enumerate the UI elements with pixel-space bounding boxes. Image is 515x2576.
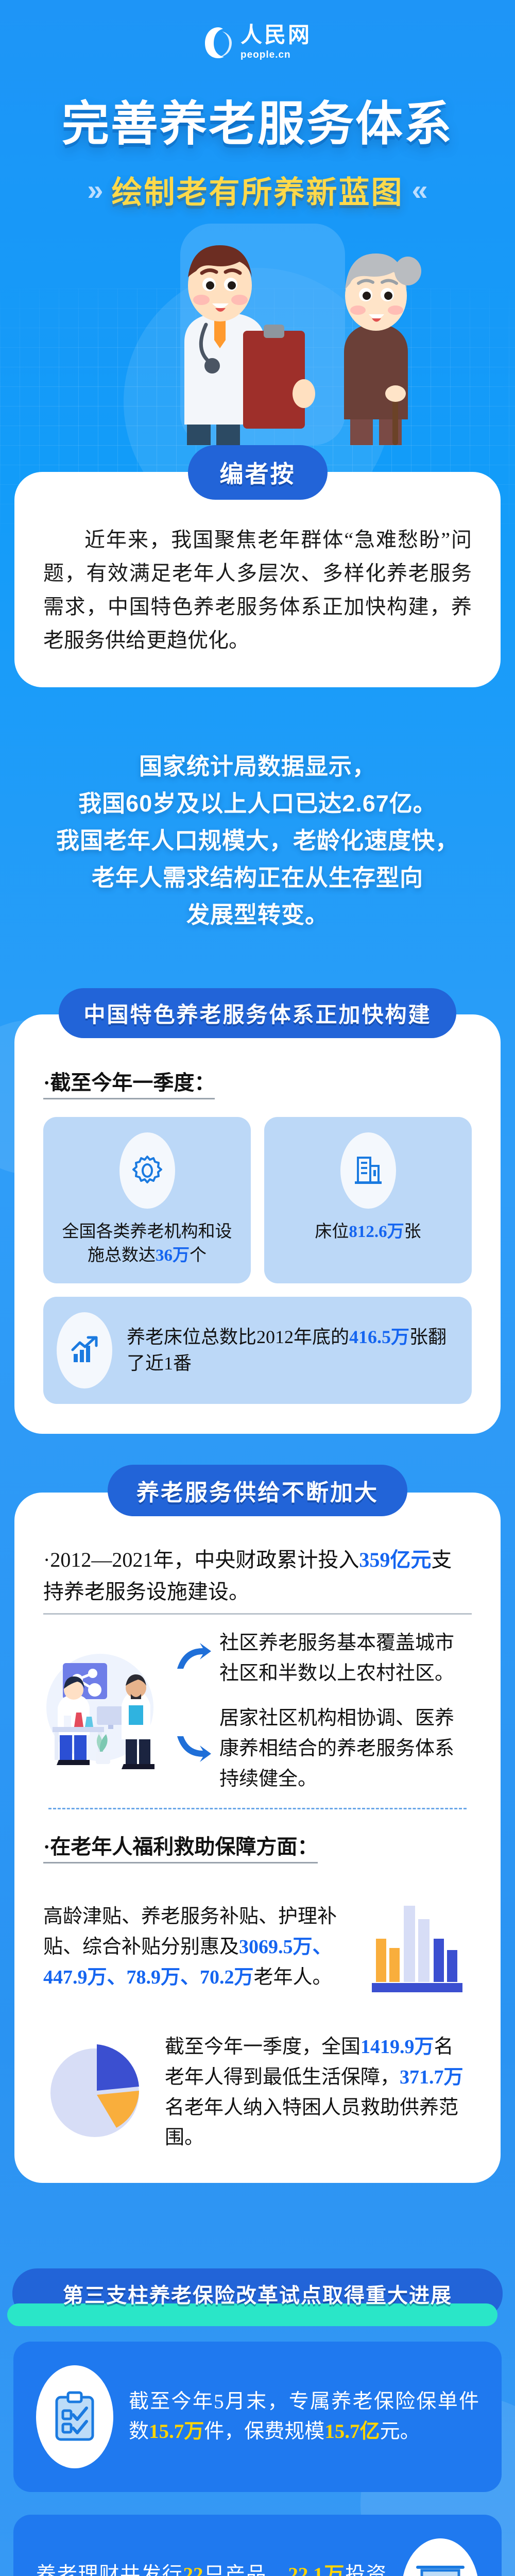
editor-note-body: 近年来，我国聚焦老年群体“急难愁盼”问题，有效满足老年人多层次、多样化养老服务需… [43,523,472,657]
policy-after: 元。 [380,2420,420,2443]
integrated-system-text: 居家社区机构相协调、医养康养相结合的养老服务体系持续健全。 [219,1703,472,1794]
section1-bullet-head: ·截至今年一季度： [43,1066,215,1099]
page-subtitle: 绘制老有所养新蓝图 [112,167,404,212]
stat-card-beds-text: 床位812.6万张 [315,1220,421,1244]
section3-ribbon-wrap: 第三支柱养老保险改革试点取得重大进展 [12,2268,503,2319]
pie-value-1: 1419.9万 [360,2036,434,2058]
arrow-down-right-icon [175,1733,211,1765]
pension-policy-card: 截至今年5月末，专属养老保险保单件数15.7万件，保费规模15.7亿元。 [13,2342,502,2492]
page-title: 完善养老服务体系 [0,99,515,150]
pension-wealth-text: 养老理财共发行22只产品，22.1万投资者认购金额544亿元。 [36,2560,386,2576]
chevron-left-icon: « [412,176,428,205]
section1-panel: ·截至今年一季度： 全国各类养老机构和设施总数达36万个 [14,1014,501,1434]
growth-chart-icon [57,1312,112,1388]
editor-note-pill-wrap: 编者按 [0,445,515,500]
stat-card-bed-growth: 养老床位总数比2012年底的416.5万张翻了近1番 [43,1297,472,1404]
welfare-after: 老年人。 [254,1967,332,1988]
section2-funding-lead: ·2012—2021年，中央财政累计投入359亿元支持养老服务设施建设。 [43,1544,472,1615]
logo-text-en: people.cn [241,49,291,61]
section2-bullet-head: ·在老年人福利救助保障方面： [43,1830,318,1863]
presentation-chart-icon [402,2538,479,2576]
section1-card-row: 全国各类养老机构和设施总数达36万个 床 [43,1117,472,1284]
doctor-and-elder-illustration [0,224,515,445]
bed-growth-before: 养老床位总数比2012年底的 [127,1327,349,1347]
assistance-coverage-text: 截至今年一季度，全国1419.9万名老年人得到最低生活保障，371.7万名老年人… [165,2032,472,2154]
gear-icon [119,1132,175,1209]
pie-after: 名老年人纳入特困人员救助供养范围。 [165,2097,458,2149]
institutions-text-after: 个 [190,1246,207,1265]
stat-card-institutions: 全国各类养老机构和设施总数达36万个 [43,1117,251,1284]
bed-growth-text: 养老床位总数比2012年底的416.5万张翻了近1番 [127,1324,458,1377]
pension-wealth-card: 养老理财共发行22只产品，22.1万投资者认购金额544亿元。 [13,2515,502,2576]
policy-value-2: 15.7亿 [324,2420,380,2443]
arrow-up-right-icon [175,1643,211,1674]
section2-ribbon-wrap: 养老服务供给不断加大 [0,1465,515,1516]
section2-coverage-row: 社区养老服务基本覆盖城市社区和半数以上农村社区。 居家社区机构相协调、医养康养相… [43,1628,472,1794]
stat-card-beds: 床位812.6万张 [264,1117,472,1284]
wealth-value-2: 22.1万 [288,2564,345,2576]
bed-growth-value: 416.5万 [349,1327,409,1347]
pie-before: 截至今年一季度，全国 [165,2036,360,2058]
institutions-value: 36万 [156,1246,190,1265]
wealth-value-1: 22 [183,2564,203,2576]
policy-value-1: 15.7万 [149,2420,204,2443]
welfare-subsidy-text: 高龄津贴、养老服务补贴、护理补贴、综合补贴分别惠及3069.5万、447.9万、… [43,1902,355,1993]
policy-mid: 件，保费规模 [204,2420,324,2443]
hero: 完善养老服务体系 » 绘制老有所养新蓝图 « [0,67,515,212]
assistance-pie-chart [43,2037,151,2148]
beds-text-before: 床位 [315,1223,349,1241]
lab-researchers-illustration-icon [43,1646,162,1777]
welfare-subsidy-row: 高龄津贴、养老服务补贴、护理补贴、综合补贴分别惠及3069.5万、447.9万、… [43,1894,472,2000]
beds-text-after: 张 [404,1223,421,1241]
section3-ribbon: 第三支柱养老保险改革试点取得重大进展 [12,2268,503,2319]
wealth-mid: 只产品， [203,2564,288,2576]
stat-line-1: 国家统计局数据显示， [31,748,484,785]
section2-panel: ·2012—2021年，中央财政累计投入359亿元支持养老服务设施建设。 [14,1493,501,2183]
logo-text-cn: 人民网 [241,25,312,46]
stat-line-2: 我国60岁及以上人口已达2.67亿。 [31,785,484,822]
stat-line-5: 发展型转变。 [31,896,484,934]
national-statistics-band: 国家统计局数据显示， 我国60岁及以上人口已达2.67亿。 我国老年人口规模大，… [0,721,515,963]
funding-before: ·2012—2021年，中央财政累计投入 [43,1548,359,1571]
infographic-page: 人民网 people.cn 完善养老服务体系 » 绘制老有所养新蓝图 « [0,0,515,2576]
section1-ribbon: 中国特色养老服务体系正加快构建 [59,988,456,1038]
community-coverage-text: 社区养老服务基本覆盖城市社区和半数以上农村社区。 [219,1628,472,1689]
pie-value-2: 371.7万 [400,2066,463,2088]
site-logo[interactable]: 人民网 people.cn [203,25,312,61]
clipboard-check-icon [36,2365,113,2468]
institutions-text-before: 全国各类养老机构和设施总数达 [62,1223,232,1265]
building-icon [340,1132,396,1209]
section1-ribbon-wrap: 中国特色养老服务体系正加快构建 [0,988,515,1038]
stat-line-3: 我国老年人口规模大，老龄化速度快， [31,822,484,859]
chevron-right-icon: » [87,176,103,205]
stat-card-institutions-text: 全国各类养老机构和设施总数达36万个 [57,1220,237,1268]
wealth-before: 养老理财共发行 [36,2564,183,2576]
subsidy-bar-chart [369,1894,472,2000]
beds-value: 812.6万 [349,1223,404,1241]
section2-ribbon: 养老服务供给不断加大 [108,1465,407,1516]
masthead: 人民网 people.cn [0,0,515,67]
stat-line-4: 老年人需求结构正在从生存型向 [31,859,484,896]
assistance-coverage-row: 截至今年一季度，全国1419.9万名老年人得到最低生活保障，371.7万名老年人… [43,2032,472,2154]
editor-note-panel: 近年来，我国聚焦老年群体“急难愁盼”问题，有效满足老年人多层次、多样化养老服务需… [14,472,501,687]
hero-subtitle-row: » 绘制老有所养新蓝图 « [0,167,515,212]
pension-policy-text: 截至今年5月末，专属养老保险保单件数15.7万件，保费规模15.7亿元。 [129,2387,479,2447]
people-daily-eye-logo-icon [203,26,233,59]
funding-value: 359亿元 [359,1548,431,1571]
editor-note-pill: 编者按 [188,445,328,500]
